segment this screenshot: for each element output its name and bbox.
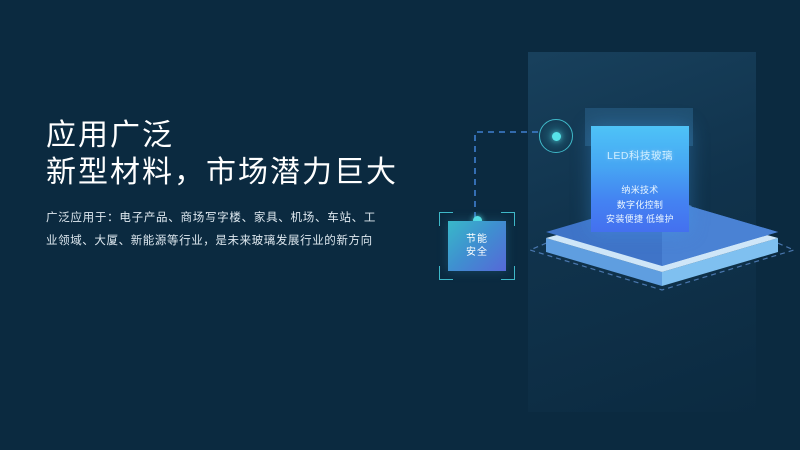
led-feature-item: 安装便捷 低维护 [591, 212, 689, 227]
node-circle-icon [539, 119, 573, 153]
page-title-line-1: 应用广泛 [46, 118, 446, 155]
led-feature-item: 纳米技术 [591, 183, 689, 198]
text-block: 应用广泛 新型材料，市场潜力巨大 广泛应用于：电子产品、商场写字楼、家具、机场、… [46, 118, 446, 253]
tag-label-line1: 节能 [466, 233, 488, 247]
page-title-line-2: 新型材料，市场潜力巨大 [46, 155, 446, 192]
tag-callout: 节能 安全 [437, 208, 517, 284]
slide-canvas: LED科技玻璃 纳米技术 数字化控制 安装便捷 低维护 节能 安全 应用广泛 新… [0, 0, 800, 450]
node-dot-icon [552, 132, 561, 141]
tag-box: 节能 安全 [448, 221, 506, 271]
body-paragraph: 广泛应用于：电子产品、商场写字楼、家具、机场、车站、工业领域、大厦、新能源等行业… [46, 207, 376, 253]
led-feature-list: 纳米技术 数字化控制 安装便捷 低维护 [591, 183, 689, 227]
tag-label-line2: 安全 [466, 246, 488, 260]
led-panel-title: LED科技玻璃 [591, 148, 689, 163]
led-glass-panel: LED科技玻璃 纳米技术 数字化控制 安装便捷 低维护 [591, 126, 689, 232]
led-feature-item: 数字化控制 [591, 198, 689, 213]
